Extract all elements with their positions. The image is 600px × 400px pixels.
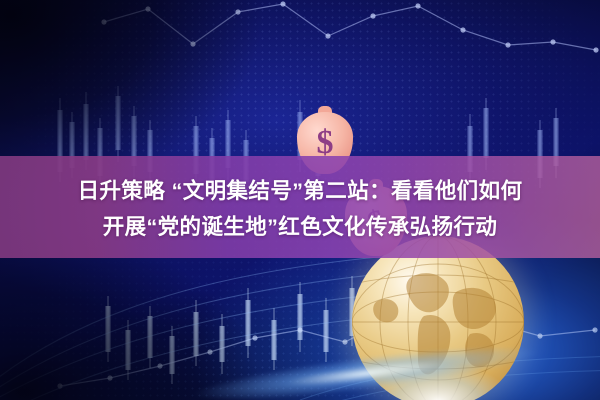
promo-banner-image: $ $ 日升策略 “文明集结号”第二站：看看他们如何 开展“党的诞生地”红色文化…	[0, 0, 600, 400]
banner-title-line-2: 开展“党的诞生地”红色文化传承弘扬行动	[103, 210, 498, 241]
banner-text-block: 日升策略 “文明集结号”第二站：看看他们如何 开展“党的诞生地”红色文化传承弘扬…	[0, 156, 600, 258]
banner-title-line-1: 日升策略 “文明集结号”第二站：看看他们如何	[78, 174, 523, 205]
